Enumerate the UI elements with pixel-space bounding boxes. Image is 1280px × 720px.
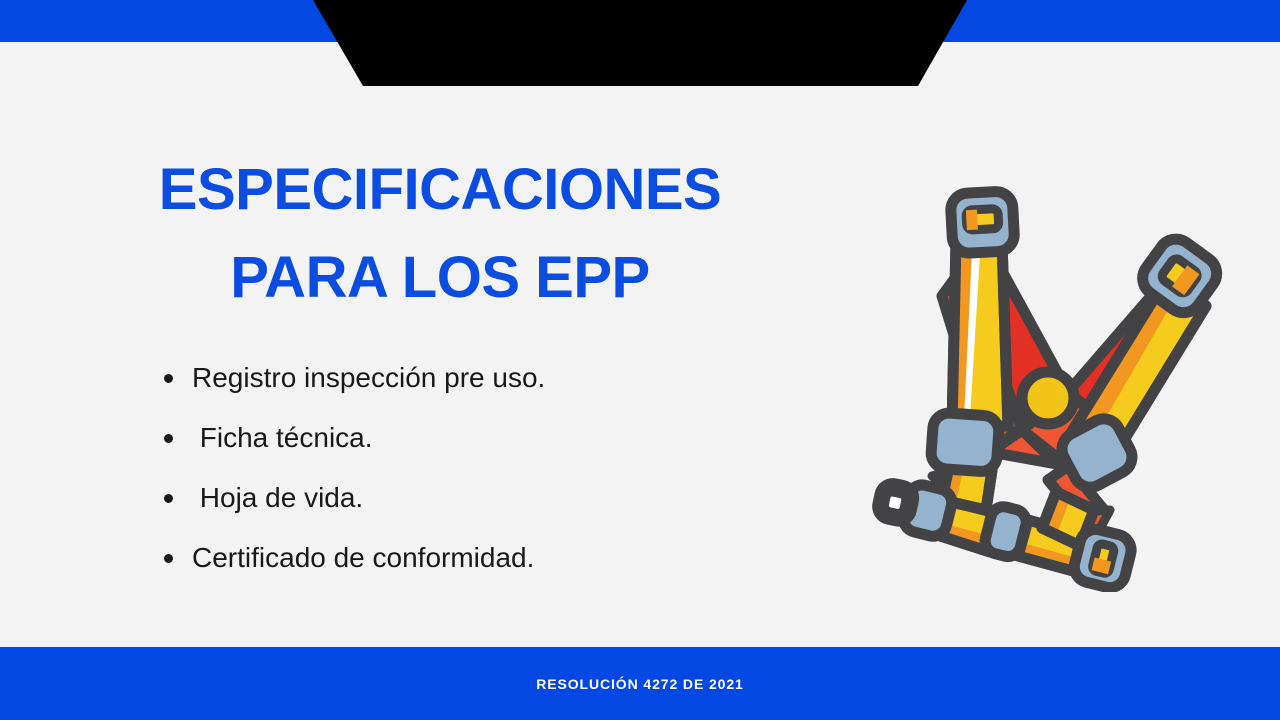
bullet-dot-icon <box>164 374 173 383</box>
list-item-label: Certificado de conformidad. <box>192 538 534 578</box>
safety-harness-illustration <box>872 180 1240 592</box>
specification-list: Registro inspección pre uso. Ficha técni… <box>160 358 780 598</box>
page-title-line-1: ESPECIFICACIONES <box>60 146 820 234</box>
list-item-label: Hoja de vida. <box>192 478 363 518</box>
list-item: Registro inspección pre uso. <box>160 358 780 418</box>
bullet-dot-icon <box>164 434 173 443</box>
page-title-line-2: PARA LOS EPP <box>60 234 820 322</box>
list-item: Ficha técnica. <box>160 418 780 478</box>
list-item-label: Registro inspección pre uso. <box>192 358 545 398</box>
footer-note: RESOLUCIÓN 4272 DE 2021 <box>0 674 1280 694</box>
list-item-label: Ficha técnica. <box>192 418 373 458</box>
bullet-dot-icon <box>164 494 173 503</box>
list-item: Hoja de vida. <box>160 478 780 538</box>
page-title: ESPECIFICACIONES PARA LOS EPP <box>60 146 820 322</box>
list-item: Certificado de conformidad. <box>160 538 780 598</box>
bullet-dot-icon <box>164 554 173 563</box>
slide-canvas: ESPECIFICACIONES PARA LOS EPP Registro i… <box>0 0 1280 720</box>
